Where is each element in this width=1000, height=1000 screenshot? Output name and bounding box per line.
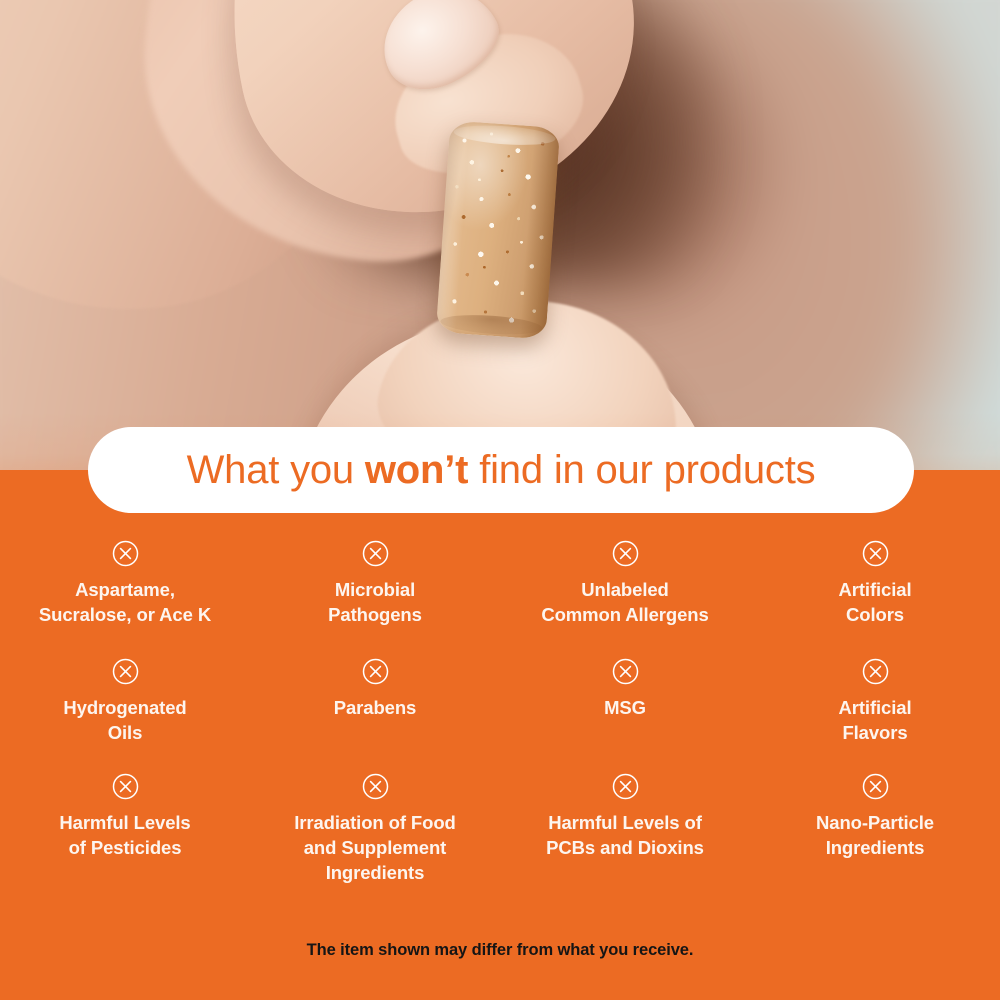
excluded-item: MSG <box>500 658 750 773</box>
excluded-item-label: HydrogenatedOils <box>63 695 186 745</box>
circle-x-icon <box>862 540 889 567</box>
excluded-item: ArtificialFlavors <box>750 658 1000 773</box>
circle-x-icon <box>612 773 639 800</box>
circle-x-icon <box>112 658 139 685</box>
excluded-item-label: ArtificialFlavors <box>838 695 911 745</box>
circle-x-icon <box>862 658 889 685</box>
excluded-item-label: ArtificialColors <box>838 577 911 627</box>
disclaimer-text: The item shown may differ from what you … <box>0 941 1000 960</box>
heading-banner: What you won’t find in our products <box>88 427 914 513</box>
excluded-item-label: Harmful Levels ofPCBs and Dioxins <box>546 810 704 860</box>
circle-x-icon <box>862 773 889 800</box>
excluded-item: Aspartame,Sucralose, or Ace K <box>0 540 250 658</box>
product-photo <box>0 0 1000 472</box>
excluded-item-label: Nano-ParticleIngredients <box>816 810 934 860</box>
excluded-item: Harmful Levels ofPCBs and Dioxins <box>500 773 750 885</box>
circle-x-icon <box>612 540 639 567</box>
excluded-item: ArtificialColors <box>750 540 1000 658</box>
excluded-item: Irradiation of Foodand SupplementIngredi… <box>250 773 500 885</box>
page-title-emphasis: won’t <box>365 448 468 492</box>
page-title-part2: find in our products <box>468 448 815 492</box>
circle-x-icon <box>112 773 139 800</box>
excluded-item: Nano-ParticleIngredients <box>750 773 1000 885</box>
circle-x-icon <box>362 540 389 567</box>
page-title-part1: What you <box>187 448 365 492</box>
circle-x-icon <box>112 540 139 567</box>
excluded-item-label: UnlabeledCommon Allergens <box>541 577 708 627</box>
excluded-item-label: Harmful Levelsof Pesticides <box>59 810 190 860</box>
excluded-item-label: Aspartame,Sucralose, or Ace K <box>39 577 211 627</box>
excluded-item: MicrobialPathogens <box>250 540 500 658</box>
circle-x-icon <box>362 658 389 685</box>
excluded-item-label: Irradiation of Foodand SupplementIngredi… <box>294 810 456 885</box>
excluded-item-label: Parabens <box>334 695 417 720</box>
promo-graphic: What you won’t find in our products Aspa… <box>0 0 1000 1000</box>
excluded-item: Parabens <box>250 658 500 773</box>
excluded-item-label: MSG <box>604 695 646 720</box>
excluded-item: HydrogenatedOils <box>0 658 250 773</box>
circle-x-icon <box>612 658 639 685</box>
excluded-item: Harmful Levelsof Pesticides <box>0 773 250 885</box>
page-title: What you won’t find in our products <box>187 448 816 493</box>
excluded-ingredients-grid: Aspartame,Sucralose, or Ace KMicrobialPa… <box>0 540 1000 885</box>
excluded-item-label: MicrobialPathogens <box>328 577 422 627</box>
excluded-item: UnlabeledCommon Allergens <box>500 540 750 658</box>
circle-x-icon <box>362 773 389 800</box>
supplement-tablet <box>436 120 561 339</box>
